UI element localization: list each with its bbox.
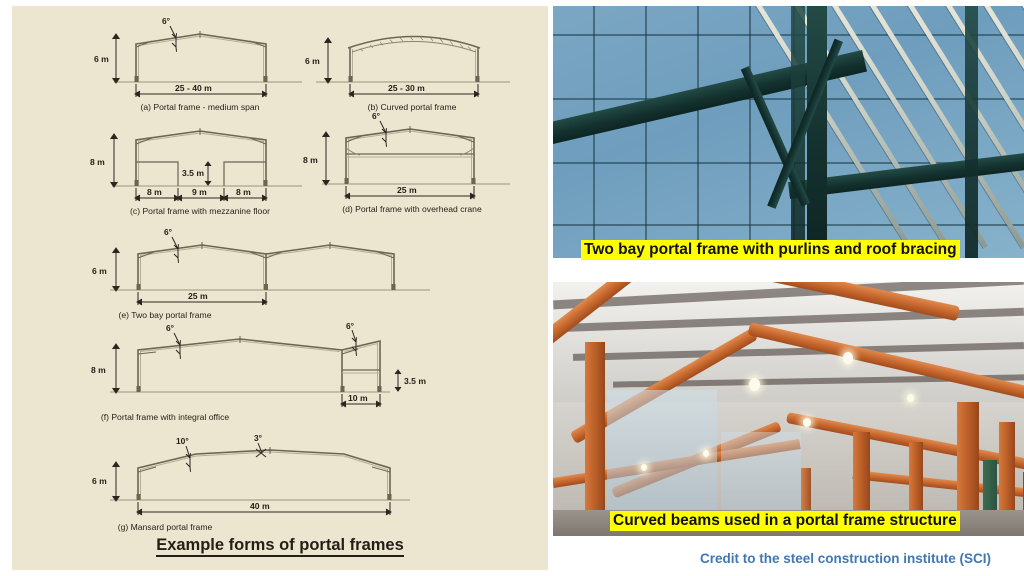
slide: 6° 6 m 25 - 40 m (a) Portal frame - medi… <box>0 0 1024 576</box>
figure-c-mezz-height: 3.5 m <box>182 168 204 178</box>
figure-f-office-span: 10 m <box>348 393 368 403</box>
figure-a: 6° 6 m 25 - 40 m (a) Portal frame - medi… <box>90 14 310 114</box>
panel-caption: Example forms of portal frames <box>12 536 548 555</box>
figure-e-caption: (e) Two bay portal frame <box>0 310 340 320</box>
figure-g-height: 6 m <box>92 476 107 486</box>
figure-b-height: 6 m <box>305 56 320 66</box>
figure-c-caption: (c) Portal frame with mezzanine floor <box>90 206 310 216</box>
curved-beams-photo <box>553 282 1024 536</box>
figure-f-angle-right: 6° <box>346 321 354 331</box>
figure-g-angle-left: 10° <box>176 436 189 446</box>
credit-text: Credit to the steel construction institu… <box>700 551 991 566</box>
figure-g: 10° 3° 6 m 40 m (g) Mansard portal frame <box>90 430 440 535</box>
figure-d-angle: 6° <box>372 111 380 121</box>
panel-caption-text: Example forms of portal frames <box>156 536 404 557</box>
figure-d: 6° 8 m 25 m (d) Portal frame with overhe… <box>302 110 522 215</box>
figure-e-span: 25 m <box>188 291 208 301</box>
figure-d-caption: (d) Portal frame with overhead crane <box>302 204 522 214</box>
figure-b-span: 25 - 30 m <box>388 83 425 93</box>
figure-f-height: 8 m <box>91 365 106 375</box>
two-bay-portal-frame-caption: Two bay portal frame with purlins and ro… <box>581 240 960 260</box>
figure-a-height: 6 m <box>94 54 109 64</box>
figure-g-caption: (g) Mansard portal frame <box>0 522 340 532</box>
figure-e-angle: 6° <box>164 227 172 237</box>
figure-b: 6 m 25 - 30 m (b) Curved portal frame <box>302 14 522 114</box>
figure-f: 6° 6° 8 m 3.5 m 10 m (f) Portal frame wi… <box>90 324 440 429</box>
diagram-panel: 6° 6 m 25 - 40 m (a) Portal frame - medi… <box>12 6 548 570</box>
curved-beams-caption: Curved beams used in a portal frame stru… <box>610 511 960 531</box>
two-bay-portal-frame-photo <box>553 6 1024 258</box>
figure-d-height: 8 m <box>303 155 318 165</box>
figure-a-angle: 6° <box>162 16 170 26</box>
figure-c-bay1: 8 m <box>147 187 162 197</box>
figure-f-caption: (f) Portal frame with integral office <box>0 412 340 422</box>
figure-a-span: 25 - 40 m <box>175 83 212 93</box>
figure-c-height: 8 m <box>90 157 105 167</box>
figure-a-caption: (a) Portal frame - medium span <box>90 102 310 112</box>
figure-c: 8 m 3.5 m 8 m 9 m 8 m (c) Portal frame w… <box>90 118 310 218</box>
figure-f-office-height: 3.5 m <box>404 376 426 386</box>
figure-g-span: 40 m <box>250 501 270 511</box>
figure-g-angle-right: 3° <box>254 433 262 443</box>
figure-c-bay2: 9 m <box>192 187 207 197</box>
figure-c-bay3: 8 m <box>236 187 251 197</box>
figure-e-height: 6 m <box>92 266 107 276</box>
figure-f-angle-left: 6° <box>166 323 174 333</box>
figure-d-span: 25 m <box>397 185 417 195</box>
figure-e: 6° 6 m 25 m (e) Two bay portal frame <box>90 228 440 328</box>
